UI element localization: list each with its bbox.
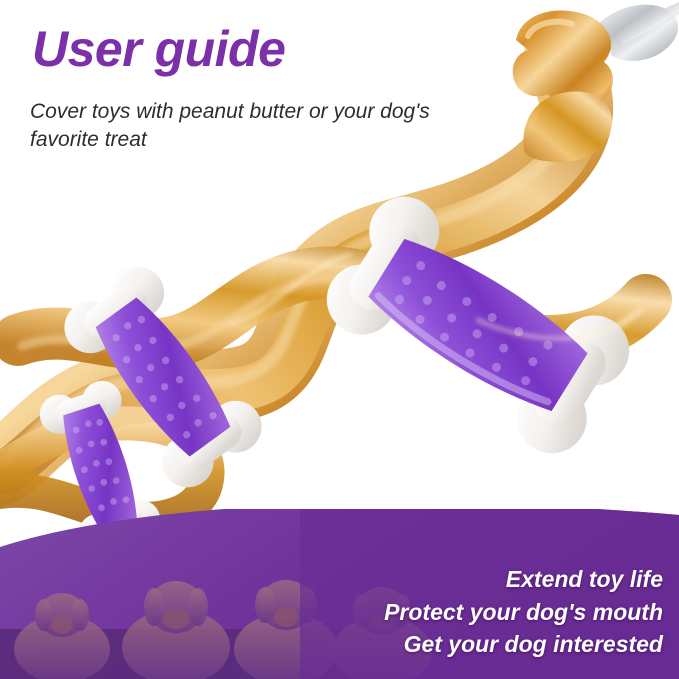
benefit-item-2: Protect your dog's mouth xyxy=(384,596,663,629)
spoon-icon xyxy=(600,2,679,61)
benefit-item-3: Get your dog interested xyxy=(384,628,663,661)
page-subtitle: Cover toys with peanut butter or your do… xyxy=(30,98,450,155)
page-title: User guide xyxy=(32,24,285,74)
poster: User guide Cover toys with peanut butter… xyxy=(0,0,679,679)
benefit-item-1: Extend toy life xyxy=(384,563,663,596)
benefits-panel: Extend toy life Protect your dog's mouth… xyxy=(0,509,679,679)
benefits-list: Extend toy life Protect your dog's mouth… xyxy=(384,563,663,661)
